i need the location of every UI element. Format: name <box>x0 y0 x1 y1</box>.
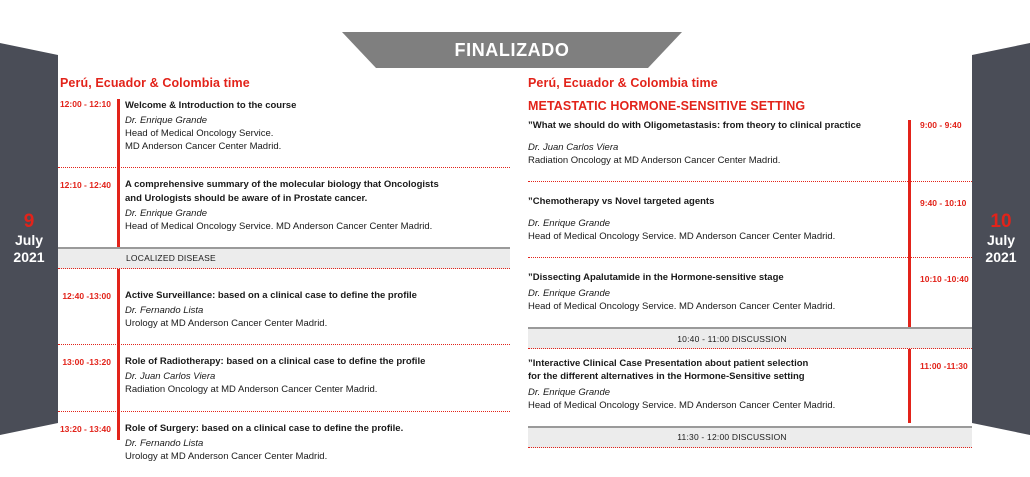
session-title: for the different alternatives in the Ho… <box>528 371 898 384</box>
session-affiliation: Radiation Oncology at MD Anderson Cancer… <box>125 383 510 396</box>
session-speaker: Dr. Juan Carlos Viera <box>125 370 510 383</box>
table-row[interactable]: 12:40 -13:00 Active Surveillance: based … <box>58 269 510 344</box>
status-banner: FINALIZADO <box>342 32 682 68</box>
session-body: ”Chemotherapy vs Novel targeted agents D… <box>528 186 908 257</box>
session-title: ”What we should do with Oligometastasis:… <box>528 120 898 133</box>
session-title: Active Surveillance: based on a clinical… <box>125 289 510 302</box>
day-tab-right[interactable]: 10 July 2021 <box>972 43 1030 435</box>
session-affiliation: Radiation Oncology at MD Anderson Cancer… <box>528 154 898 167</box>
table-row[interactable]: 13:00 -13:20 Role of Radiotherapy: based… <box>58 344 510 410</box>
agenda-poster: FINALIZADO 9 July 2021 10 July 2021 Perú… <box>0 0 1030 450</box>
session-time: 11:00 -11:30 <box>908 358 972 426</box>
discussion-band-label: 10:40 - 11:00 DISCUSSION <box>528 334 972 344</box>
session-speaker: Dr. Enrique Grande <box>125 207 510 220</box>
day-tab-right-year: 2021 <box>985 249 1016 266</box>
session-time: 9:00 - 9:40 <box>908 120 972 181</box>
section-band-localized-disease: LOCALIZED DISEASE <box>58 247 510 269</box>
session-speaker: Dr. Fernando Lista <box>125 304 510 317</box>
session-time: 12:00 - 12:10 <box>58 99 117 167</box>
discussion-band-2: 11:30 - 12:00 DISCUSSION <box>528 426 972 448</box>
session-affiliation: Head of Medical Oncology Service. <box>125 127 510 140</box>
right-section-heading: METASTATIC HORMONE-SENSITIVE SETTING <box>528 99 972 113</box>
table-row[interactable]: 13:20 - 13:40 Role of Surgery: based on … <box>58 411 510 477</box>
right-timezone-heading: Perú, Ecuador & Colombia time <box>528 76 972 90</box>
session-title: ”Dissecting Apalutamide in the Hormone-s… <box>528 272 898 285</box>
session-body: A comprehensive summary of the molecular… <box>117 168 510 246</box>
session-affiliation: Head of Medical Oncology Service. MD And… <box>528 230 898 243</box>
spacer <box>528 133 898 139</box>
session-affiliation: MD Anderson Cancer Center Madrid. <box>125 140 510 153</box>
section-band-label: LOCALIZED DISEASE <box>58 253 216 263</box>
table-row[interactable]: ”Dissecting Apalutamide in the Hormone-s… <box>528 257 972 327</box>
left-timezone-heading: Perú, Ecuador & Colombia time <box>58 76 510 90</box>
session-body: Role of Surgery: based on a clinical cas… <box>117 412 510 477</box>
left-session-list: 12:00 - 12:10 Welcome & Introduction to … <box>58 99 510 247</box>
session-affiliation: Urology at MD Anderson Cancer Center Mad… <box>125 450 510 463</box>
session-body: ”Interactive Clinical Case Presentation … <box>528 358 908 426</box>
day-tab-left-year: 2021 <box>13 249 44 266</box>
session-title: A comprehensive summary of the molecular… <box>125 178 510 191</box>
session-body: Active Surveillance: based on a clinical… <box>117 279 510 344</box>
session-time: 10:10 -10:40 <box>908 262 972 327</box>
day-tab-left[interactable]: 9 July 2021 <box>0 43 58 435</box>
session-affiliation: Head of Medical Oncology Service. MD And… <box>528 399 898 412</box>
agenda-column-day-10: Perú, Ecuador & Colombia time METASTATIC… <box>528 76 972 448</box>
session-time: 12:10 - 12:40 <box>58 168 117 246</box>
day-tab-left-number: 9 <box>24 212 35 232</box>
session-time: 13:00 -13:20 <box>58 345 117 410</box>
left-session-list-2: 12:40 -13:00 Active Surveillance: based … <box>58 269 510 477</box>
session-title: Role of Surgery: based on a clinical cas… <box>125 422 510 435</box>
session-speaker: Dr. Juan Carlos Viera <box>528 141 898 154</box>
session-title: ”Interactive Clinical Case Presentation … <box>528 358 898 371</box>
session-speaker: Dr. Fernando Lista <box>125 437 510 450</box>
table-row[interactable]: ”Interactive Clinical Case Presentation … <box>528 349 972 426</box>
right-session-list: ”What we should do with Oligometastasis:… <box>528 120 972 327</box>
spacer <box>528 209 898 215</box>
session-title: Welcome & Introduction to the course <box>125 99 510 112</box>
session-affiliation: Head of Medical Oncology Service. MD And… <box>528 300 898 313</box>
session-speaker: Dr. Enrique Grande <box>528 217 898 230</box>
day-tab-right-month: July <box>987 232 1015 249</box>
session-body: ”What we should do with Oligometastasis:… <box>528 120 908 181</box>
session-time: 13:20 - 13:40 <box>58 412 117 477</box>
session-time: 12:40 -13:00 <box>58 279 117 344</box>
session-title: ”Chemotherapy vs Novel targeted agents <box>528 196 898 209</box>
session-speaker: Dr. Enrique Grande <box>125 114 510 127</box>
session-time: 9:40 - 10:10 <box>908 186 972 257</box>
session-title: Role of Radiotherapy: based on a clinica… <box>125 355 510 368</box>
session-affiliation: Head of Medical Oncology Service. MD And… <box>125 220 510 233</box>
table-row[interactable]: ”Chemotherapy vs Novel targeted agents D… <box>528 181 972 257</box>
table-row[interactable]: 12:00 - 12:10 Welcome & Introduction to … <box>58 99 510 167</box>
agenda-column-day-9: Perú, Ecuador & Colombia time 12:00 - 12… <box>58 76 510 477</box>
session-affiliation: Urology at MD Anderson Cancer Center Mad… <box>125 317 510 330</box>
session-speaker: Dr. Enrique Grande <box>528 386 898 399</box>
day-tab-right-number: 10 <box>990 212 1011 232</box>
discussion-band-label: 11:30 - 12:00 DISCUSSION <box>528 432 972 442</box>
session-body: ”Dissecting Apalutamide in the Hormone-s… <box>528 262 908 327</box>
table-row[interactable]: 12:10 - 12:40 A comprehensive summary of… <box>58 167 510 246</box>
day-tab-left-month: July <box>15 232 43 249</box>
session-title: and Urologists should be aware of in Pro… <box>125 192 510 205</box>
session-body: Welcome & Introduction to the course Dr.… <box>117 99 510 167</box>
right-session-list-2: ”Interactive Clinical Case Presentation … <box>528 349 972 426</box>
table-row[interactable]: ”What we should do with Oligometastasis:… <box>528 120 972 181</box>
session-body: Role of Radiotherapy: based on a clinica… <box>117 345 510 410</box>
discussion-band-1: 10:40 - 11:00 DISCUSSION <box>528 327 972 349</box>
status-banner-label: FINALIZADO <box>455 40 570 61</box>
session-speaker: Dr. Enrique Grande <box>528 287 898 300</box>
